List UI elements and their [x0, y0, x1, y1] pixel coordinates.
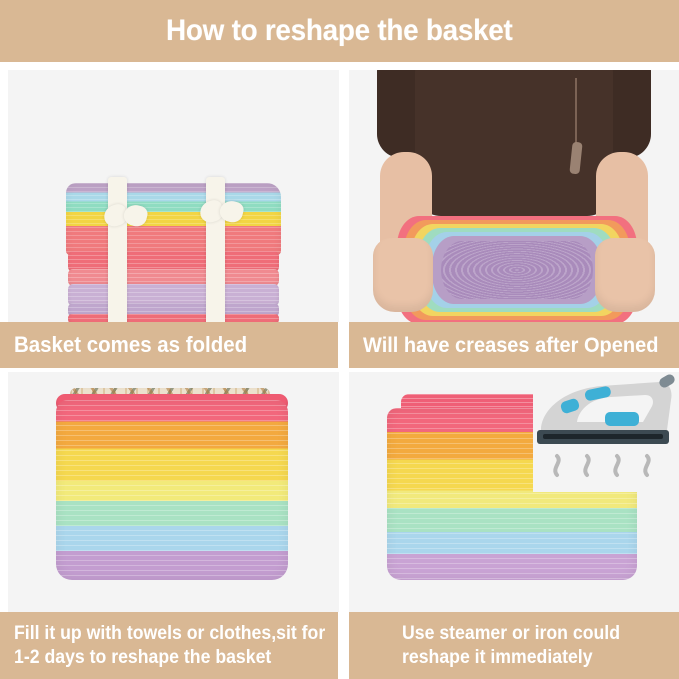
caption-fill-line1: Fill it up with towels or clothes,sit fo…	[14, 622, 325, 646]
folded-layer-coral-3	[68, 314, 279, 322]
necklace-pendant	[569, 142, 582, 175]
panel-folded	[8, 70, 339, 322]
steam-iron-illustration	[533, 372, 679, 492]
folded-basket-top-face	[66, 183, 281, 255]
caption-creases: Will have creases after Opened	[349, 322, 679, 368]
steam-wisps	[555, 456, 648, 475]
panel-fill	[8, 372, 339, 612]
bow-right-icon	[200, 201, 246, 223]
header-banner: How to reshape the basket	[0, 0, 679, 62]
photo-folded-basket-stack	[8, 70, 339, 322]
bow-left-icon	[104, 205, 150, 227]
photo-person-holding-basket	[349, 70, 679, 322]
person-torso	[415, 70, 613, 216]
caption-fill-line2: 1-2 days to reshape the basket	[14, 646, 271, 670]
basket-interior-creases	[441, 241, 593, 299]
ribbon-right	[206, 177, 225, 322]
rainbow-basket-filled	[56, 400, 288, 580]
infographic-root: How to reshape the basket	[0, 0, 679, 679]
caption-steam-line1: Use steamer or iron could	[402, 622, 620, 646]
photo-basket-with-iron	[349, 372, 679, 612]
caption-folded: Basket comes as folded	[0, 322, 338, 368]
hand-right	[595, 238, 655, 312]
folded-basket-stack	[66, 183, 281, 322]
photo-filled-basket	[8, 372, 339, 612]
caption-steam-line2: reshape it immediately	[402, 646, 593, 670]
hand-left	[373, 238, 433, 312]
ribbon-left	[108, 177, 127, 322]
caption-folded-text: Basket comes as folded	[14, 331, 247, 359]
panel-steam	[349, 372, 679, 612]
caption-steam: Use steamer or iron could reshape it imm…	[349, 612, 679, 679]
steam-iron-icon	[533, 372, 679, 492]
page-title: How to reshape the basket	[166, 14, 513, 48]
caption-fill: Fill it up with towels or clothes,sit fo…	[0, 612, 338, 679]
panel-creases	[349, 70, 679, 322]
necklace-cord	[575, 78, 577, 148]
caption-creases-text: Will have creases after Opened	[363, 332, 658, 359]
